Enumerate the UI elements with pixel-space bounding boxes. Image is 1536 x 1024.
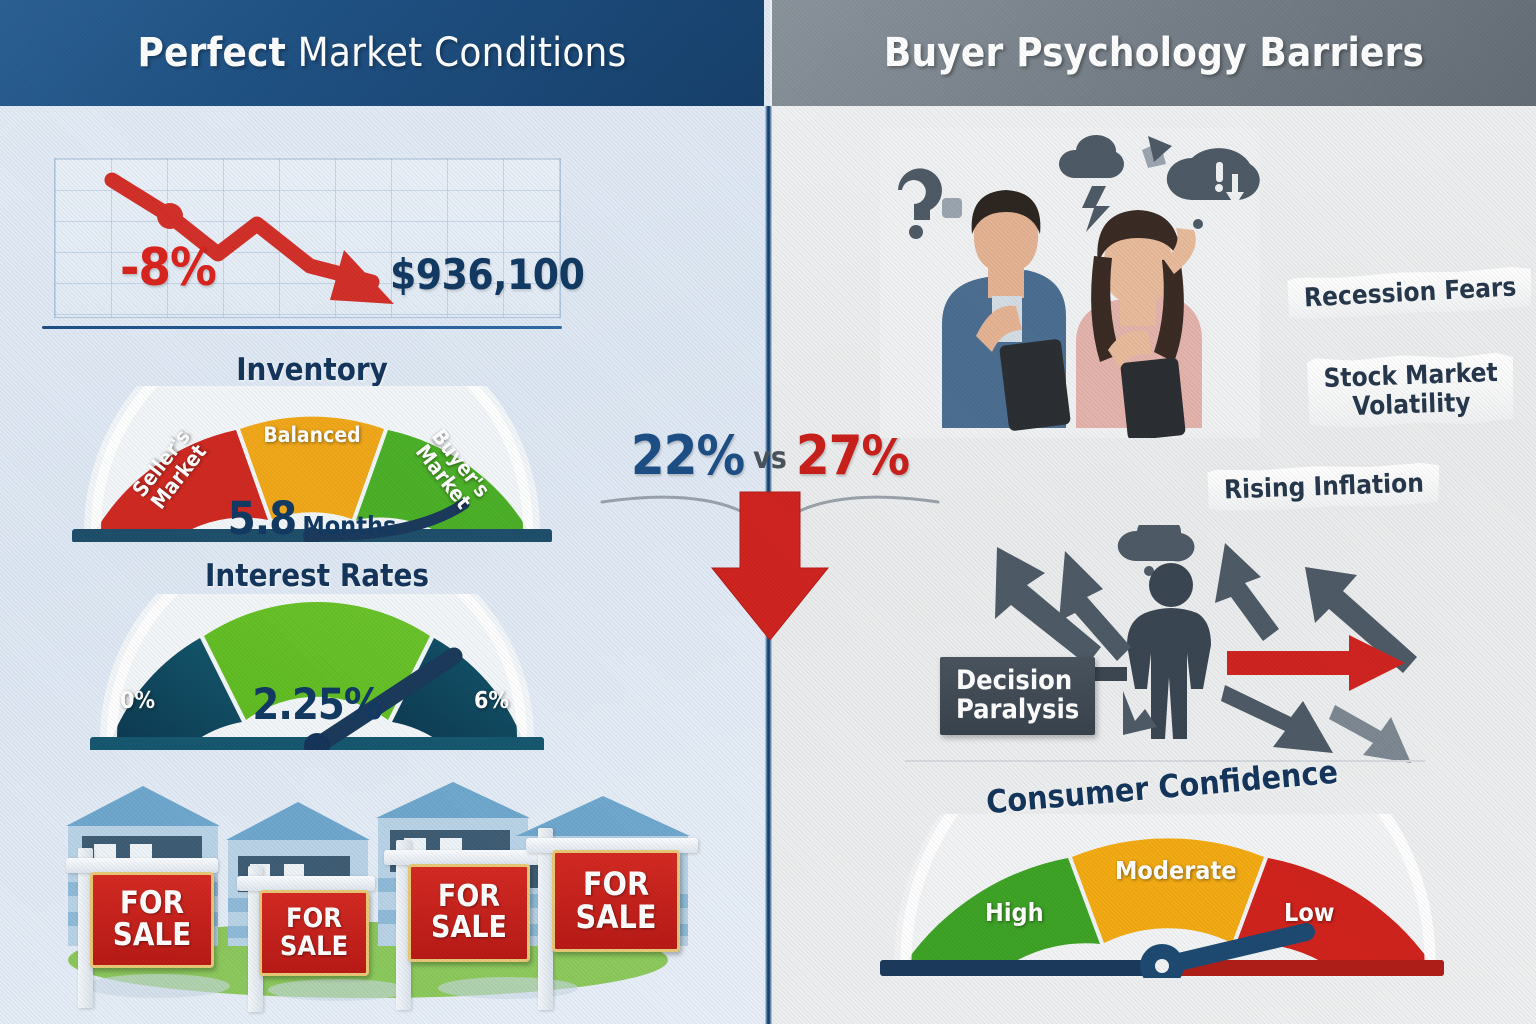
consumer-confidence-gauge: Consumer Confidence High Moderate Low (872, 768, 1452, 978)
for-sale-board: FOR SALE (552, 850, 680, 952)
down-arrow-icon (600, 474, 940, 654)
interest-gauge-title: Interest Rates (82, 558, 552, 594)
right-panel-title: Buyer Psychology Barriers (884, 30, 1424, 76)
worry-label-stock-market-volatility: Stock MarketVolatility (1307, 351, 1516, 429)
confidence-segment-moderate: Moderate (1115, 856, 1236, 885)
sign-arm (66, 858, 218, 873)
left-panel-header: Perfect Market Conditions (0, 0, 764, 106)
interest-gauge-value: 2.25% (202, 680, 432, 730)
price-change-label: -8% (120, 238, 216, 298)
for-sale-sign: FOR SALE (508, 820, 698, 1010)
sign-arm (237, 876, 375, 891)
interest-gauge-max-label: 6% (474, 688, 509, 714)
for-sale-sign: FOR SALE (48, 840, 218, 1008)
for-sale-board: FOR SALE (90, 872, 214, 968)
interest-gauge-min-label: 0% (120, 688, 155, 714)
for-sale-sign: FOR SALE (223, 860, 383, 1010)
sign-line-2: SALE (280, 933, 348, 961)
inventory-gauge: Inventory Seller'sMarket Balanced Buyer'… (62, 352, 562, 542)
sign-line-1: FOR (120, 888, 184, 920)
sign-post (538, 828, 553, 1010)
for-sale-houses-illustration: FOR SALE FOR SALE FOR SALE FOR (38, 778, 728, 1008)
inventory-segment-balanced: Balanced (247, 424, 377, 446)
inventory-value: 5.8Months (187, 492, 437, 545)
decision-paralysis-label: Decision Paralysis (940, 657, 1095, 735)
sign-line-1: FOR (286, 905, 342, 933)
comparison-callout: 22%vs27% (600, 424, 940, 654)
for-sale-board: FOR SALE (259, 890, 369, 976)
decision-paralysis-illustration: Decision Paralysis (905, 525, 1425, 770)
sign-line-1: FOR (583, 868, 649, 901)
sign-line-2: SALE (431, 913, 507, 944)
left-title-strong: Perfect (137, 30, 286, 76)
comparison-vs-label: vs (753, 441, 787, 476)
median-price-label: $936,100 (390, 250, 584, 299)
infographic-canvas: Perfect Market Conditions Buyer Psycholo… (0, 0, 1536, 1024)
sign-line-1: FOR (438, 882, 500, 913)
worried-couple-illustration-icon (880, 128, 1260, 438)
confidence-segment-low: Low (1284, 898, 1335, 927)
chart-baseline-rule (42, 326, 562, 329)
decision-paralysis-line-2: Paralysis (956, 695, 1079, 724)
price-trend-chart: -8% $936,100 (42, 158, 572, 336)
decision-paralysis-line-1: Decision (956, 666, 1079, 695)
worried-buyers-photo (880, 128, 1260, 438)
confidence-gauge-dial (872, 814, 1452, 978)
interest-rates-gauge: Interest Rates 0% 6% 2.25% (82, 558, 552, 750)
inventory-value-number: 5.8 (228, 492, 297, 545)
inventory-value-unit: Months (302, 511, 396, 540)
sign-line-2: SALE (575, 901, 656, 934)
sign-line-2: SALE (113, 920, 192, 952)
right-panel-header: Buyer Psychology Barriers (772, 0, 1536, 106)
confidence-segment-high: High (985, 898, 1044, 927)
left-title-rest: Market Conditions (286, 30, 627, 76)
left-panel-title: Perfect Market Conditions (137, 30, 626, 76)
inventory-gauge-title: Inventory (62, 352, 562, 388)
